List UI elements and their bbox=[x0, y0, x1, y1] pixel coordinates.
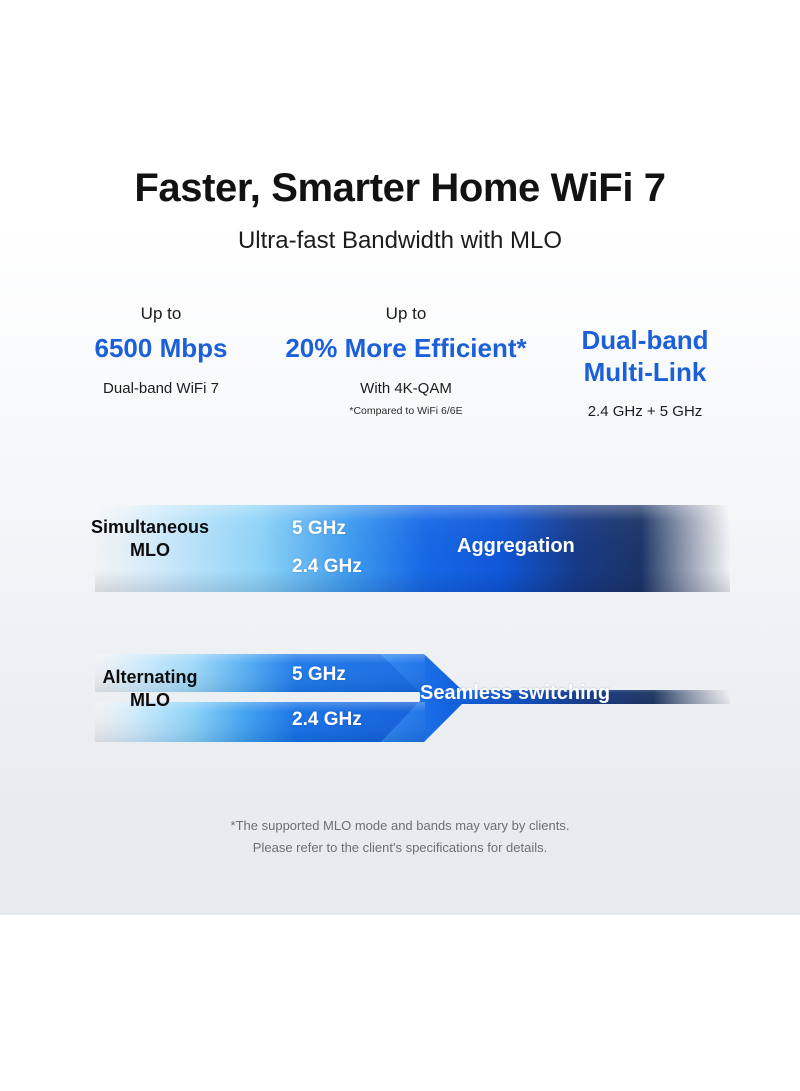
stat-card-multilink: Dual-band Multi-Link 2.4 GHz + 5 GHz bbox=[535, 303, 755, 422]
mlo-diagram-alternating: Alternating MLO bbox=[0, 652, 800, 744]
stats-row: Up to 6500 Mbps Dual-band WiFi 7 Up to 2… bbox=[45, 303, 755, 422]
stat-value: 6500 Mbps bbox=[45, 333, 277, 365]
footnote-line-1: *The supported MLO mode and bands may va… bbox=[0, 815, 800, 837]
mlo-label-alternating: Alternating MLO bbox=[60, 666, 240, 713]
stat-value: Dual-band Multi-Link bbox=[535, 325, 755, 388]
page-title: Faster, Smarter Home WiFi 7 bbox=[0, 166, 800, 211]
band-label-2-4ghz: 2.4 GHz bbox=[292, 709, 362, 731]
stat-card-speed: Up to 6500 Mbps Dual-band WiFi 7 bbox=[45, 303, 277, 398]
mlo-label-simultaneous: Simultaneous MLO bbox=[60, 516, 240, 563]
mlo-label-line-2: MLO bbox=[130, 690, 170, 710]
heading-block: Faster, Smarter Home WiFi 7 Ultra-fast B… bbox=[0, 166, 800, 256]
stat-value-line-2: Multi-Link bbox=[584, 357, 707, 387]
stat-value-line-1: Dual-band bbox=[581, 325, 708, 355]
stat-subtitle: With 4K-QAM bbox=[277, 380, 535, 399]
below-fold-whitespace bbox=[0, 915, 800, 1091]
stat-footnote: *Compared to WiFi 6/6E bbox=[277, 405, 535, 418]
stat-eyebrow bbox=[535, 303, 755, 325]
mlo-label-line-1: Alternating bbox=[102, 667, 197, 687]
mlo-result-label: Seamless switching bbox=[420, 682, 610, 705]
feature-panel: Faster, Smarter Home WiFi 7 Ultra-fast B… bbox=[0, 0, 800, 915]
stat-value: 20% More Efficient* bbox=[277, 333, 535, 365]
stat-eyebrow: Up to bbox=[45, 303, 277, 325]
stat-subtitle: Dual-band WiFi 7 bbox=[45, 380, 277, 399]
footnote-line-2: Please refer to the client's specificati… bbox=[0, 837, 800, 859]
band-label-5ghz: 5 GHz bbox=[292, 664, 346, 686]
band-label-2-4ghz: 2.4 GHz bbox=[292, 556, 362, 578]
mlo-result-label: Aggregation bbox=[457, 535, 575, 558]
stat-card-efficiency: Up to 20% More Efficient* With 4K-QAM *C… bbox=[277, 303, 535, 418]
page-subtitle: Ultra-fast Bandwidth with MLO bbox=[0, 227, 800, 256]
mlo-label-line-2: MLO bbox=[130, 540, 170, 560]
mlo-diagram-simultaneous: Simultaneous MLO bbox=[0, 502, 800, 594]
mlo-label-line-1: Simultaneous bbox=[91, 517, 209, 537]
stat-subtitle: 2.4 GHz + 5 GHz bbox=[535, 403, 755, 422]
footnote: *The supported MLO mode and bands may va… bbox=[0, 815, 800, 859]
stat-eyebrow: Up to bbox=[277, 303, 535, 325]
band-label-5ghz: 5 GHz bbox=[292, 518, 346, 540]
